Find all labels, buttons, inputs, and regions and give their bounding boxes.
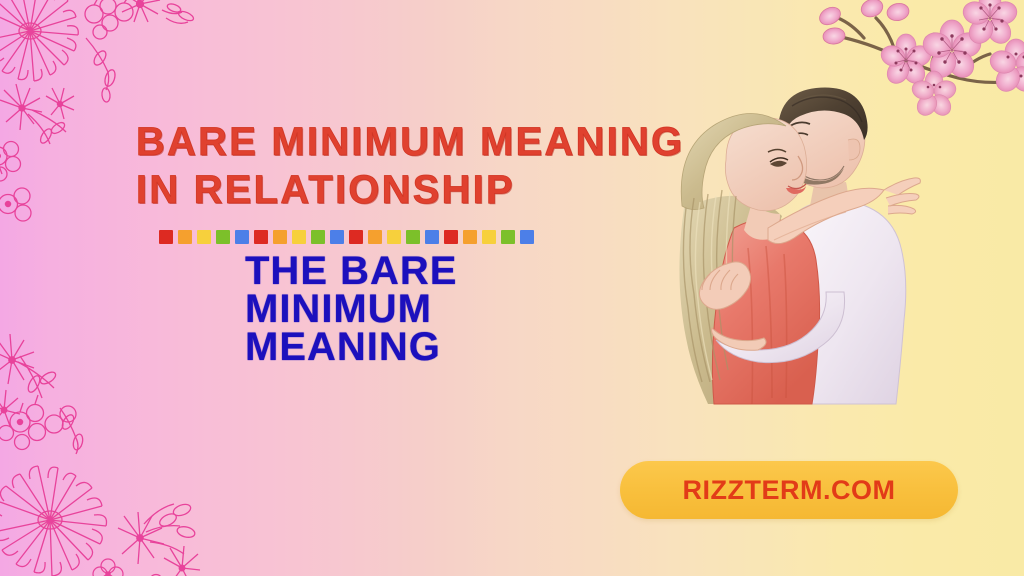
headline-line-1: BARE MINIMUM MEANING: [136, 118, 736, 166]
divider-square-12: [387, 230, 401, 244]
headline-line-2: IN RELATIONSHIP: [136, 166, 736, 214]
divider-square-8: [311, 230, 325, 244]
divider-square-3: [216, 230, 230, 244]
divider-square-6: [273, 230, 287, 244]
divider-square-18: [501, 230, 515, 244]
cherry-blossom-branch-icon: [810, 0, 1024, 130]
poster-canvas: BARE MINIMUM MEANING IN RELATIONSHIP THE…: [0, 0, 1024, 576]
subtitle-block: THE BARE MINIMUM MEANING: [245, 252, 675, 366]
divider-square-10: [349, 230, 363, 244]
divider-square-9: [330, 230, 344, 244]
divider-square-13: [406, 230, 420, 244]
divider-square-5: [254, 230, 268, 244]
divider-square-7: [292, 230, 306, 244]
divider-square-4: [235, 230, 249, 244]
subtitle-line-1: THE BARE: [245, 252, 675, 290]
divider-square-17: [482, 230, 496, 244]
floral-decoration-bottom-left-icon: [0, 392, 216, 576]
divider-square-2: [197, 230, 211, 244]
floral-decoration-mid-left-upper-icon: [0, 120, 84, 250]
website-button-label: RIZZTERM.COM: [683, 475, 896, 506]
divider-square-16: [463, 230, 477, 244]
website-button[interactable]: RIZZTERM.COM: [620, 461, 958, 519]
divider-square-14: [425, 230, 439, 244]
divider-square-11: [368, 230, 382, 244]
divider-square-15: [444, 230, 458, 244]
subtitle-line-2: MINIMUM: [245, 290, 675, 328]
subtitle-line-3: MEANING: [245, 328, 675, 366]
divider-square-19: [520, 230, 534, 244]
floral-decoration-mid-left-lower-icon: [0, 300, 88, 450]
color-square-divider: [159, 230, 534, 244]
page-title: BARE MINIMUM MEANING IN RELATIONSHIP: [136, 118, 736, 214]
divider-square-0: [159, 230, 173, 244]
divider-square-1: [178, 230, 192, 244]
